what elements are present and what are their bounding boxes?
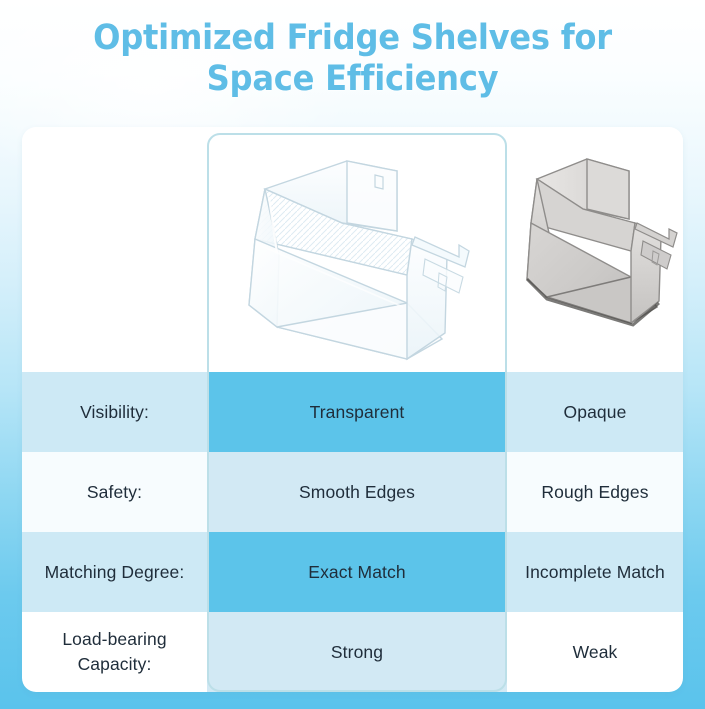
competitor-value-text: Opaque	[556, 400, 635, 425]
competitor-value-text: Rough Edges	[533, 480, 656, 505]
row-label-line-2: Capacity:	[78, 654, 152, 674]
competitor-value-cell: Incomplete Match	[507, 532, 683, 612]
row-label-text: Safety:	[79, 480, 150, 505]
table-row: Matching Degree: Exact Match Incomplete …	[22, 532, 683, 612]
row-label-line-1: Load-bearing	[62, 629, 166, 649]
featured-value-text: Smooth Edges	[291, 480, 423, 505]
row-label-text: Load-bearing Capacity:	[54, 627, 174, 677]
page-title-line-1: Optimized Fridge Shelves for	[65, 18, 640, 59]
opaque-drawer-icon	[507, 127, 683, 372]
table-row: Load-bearing Capacity: Strong Weak	[22, 612, 683, 692]
featured-value-cell: Exact Match	[207, 532, 507, 612]
featured-value-cell: Strong	[207, 612, 507, 692]
product-row-empty-label-cell	[22, 127, 207, 372]
competitor-product-image-cell	[507, 127, 683, 372]
row-label-text: Matching Degree:	[37, 560, 193, 585]
competitor-value-cell: Opaque	[507, 372, 683, 452]
competitor-value-text: Incomplete Match	[517, 560, 673, 585]
comparison-table: Visibility: Transparent Opaque Safety: S…	[22, 127, 683, 692]
table-row: Visibility: Transparent Opaque	[22, 372, 683, 452]
row-label-cell: Matching Degree:	[22, 532, 207, 612]
competitor-value-cell: Weak	[507, 612, 683, 692]
featured-value-text: Strong	[323, 640, 391, 665]
table-row: Safety: Smooth Edges Rough Edges	[22, 452, 683, 532]
featured-value-cell: Transparent	[207, 372, 507, 452]
row-label-cell: Load-bearing Capacity:	[22, 612, 207, 692]
row-label-text: Visibility:	[72, 400, 157, 425]
page-title-line-2: Space Efficiency	[65, 59, 640, 100]
row-label-cell: Safety:	[22, 452, 207, 532]
row-label-cell: Visibility:	[22, 372, 207, 452]
featured-value-text: Transparent	[302, 400, 413, 425]
product-images-row	[22, 127, 683, 372]
featured-value-text: Exact Match	[300, 560, 413, 585]
featured-value-cell: Smooth Edges	[207, 452, 507, 532]
transparent-drawer-icon	[207, 127, 507, 372]
competitor-value-cell: Rough Edges	[507, 452, 683, 532]
page-title: Optimized Fridge Shelves for Space Effic…	[0, 18, 705, 100]
competitor-value-text: Weak	[565, 640, 626, 665]
featured-product-image-cell	[207, 127, 507, 372]
